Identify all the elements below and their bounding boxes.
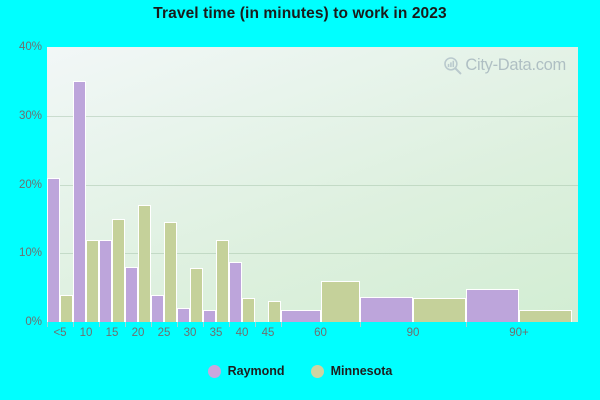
bar-minnesota-20 <box>138 205 151 322</box>
x-axis-tick-mark <box>360 322 361 327</box>
x-axis-tick-label: 35 <box>210 327 223 339</box>
gridline <box>47 253 578 254</box>
legend-swatch-icon <box>208 365 221 378</box>
bar-minnesota-lt5 <box>60 295 73 323</box>
x-axis-tick-mark <box>47 322 48 327</box>
x-axis-tick-mark <box>73 322 74 327</box>
bar-minnesota-90plus <box>519 310 572 322</box>
y-axis-tick-label: 20% <box>4 179 42 191</box>
bar-raymond-40 <box>229 262 242 322</box>
bar-minnesota-25 <box>164 222 177 322</box>
x-axis-tick-label: 40 <box>236 327 249 339</box>
x-axis-tick-mark <box>229 322 230 327</box>
x-axis-tick-mark <box>255 322 256 327</box>
x-axis-tick-label: 45 <box>262 327 275 339</box>
y-axis-tick-label: 40% <box>4 41 42 53</box>
bar-raymond-60 <box>281 310 321 322</box>
gridline <box>47 116 578 117</box>
chart-title: Travel time (in minutes) to work in 2023 <box>0 5 600 23</box>
bar-raymond-30 <box>177 308 190 322</box>
x-axis-tick-label: 10 <box>80 327 93 339</box>
bar-raymond-35 <box>203 310 216 322</box>
bar-raymond-15 <box>99 240 112 323</box>
x-axis-tick-mark <box>203 322 204 327</box>
bar-minnesota-35 <box>216 240 229 323</box>
legend-label: Raymond <box>228 364 285 378</box>
x-axis-tick-mark <box>466 322 467 327</box>
gridline <box>47 185 578 186</box>
x-axis-tick-label: 30 <box>184 327 197 339</box>
x-axis-tick-mark <box>99 322 100 327</box>
bar-minnesota-30 <box>190 268 203 322</box>
legend-swatch-icon <box>311 365 324 378</box>
x-axis-tick-mark <box>125 322 126 327</box>
x-axis-tick-label: 60 <box>314 327 327 339</box>
bar-minnesota-10 <box>86 240 99 323</box>
bar-minnesota-15 <box>112 219 125 322</box>
x-axis-tick-mark <box>177 322 178 327</box>
x-axis-tick-label: 25 <box>158 327 171 339</box>
y-axis-tick-label: 0% <box>4 316 42 328</box>
watermark-text: City-Data.com <box>465 56 566 75</box>
bar-raymond-lt5 <box>47 178 60 322</box>
bar-raymond-90 <box>360 297 413 322</box>
bar-raymond-90plus <box>466 289 519 322</box>
plot-area: City-Data.com <box>47 47 578 322</box>
watermark: City-Data.com <box>443 56 566 75</box>
legend-item-raymond[interactable]: Raymond <box>208 364 285 378</box>
chart-legend: RaymondMinnesota <box>0 364 600 378</box>
y-axis-tick-label: 30% <box>4 110 42 122</box>
bar-raymond-25 <box>151 295 164 323</box>
x-axis-tick-mark <box>151 322 152 327</box>
bar-raymond-20 <box>125 267 138 322</box>
x-axis-tick-label: 20 <box>132 327 145 339</box>
x-axis-tick-label: <5 <box>53 327 66 339</box>
x-axis-tick-mark <box>281 322 282 327</box>
legend-label: Minnesota <box>331 364 393 378</box>
x-axis-tick-label: 90 <box>407 327 420 339</box>
y-axis-tick-label: 10% <box>4 247 42 259</box>
bar-minnesota-90 <box>413 298 466 322</box>
bar-raymond-10 <box>73 81 86 322</box>
bar-minnesota-60 <box>321 281 361 322</box>
x-axis-tick-label: 15 <box>106 327 119 339</box>
bar-minnesota-40 <box>242 298 255 322</box>
legend-item-minnesota[interactable]: Minnesota <box>311 364 393 378</box>
bar-minnesota-45 <box>268 301 281 322</box>
magnifier-bar-chart-icon <box>443 56 462 75</box>
chart-container: Travel time (in minutes) to work in 2023… <box>0 0 600 400</box>
x-axis-tick-label: 90+ <box>509 327 529 339</box>
